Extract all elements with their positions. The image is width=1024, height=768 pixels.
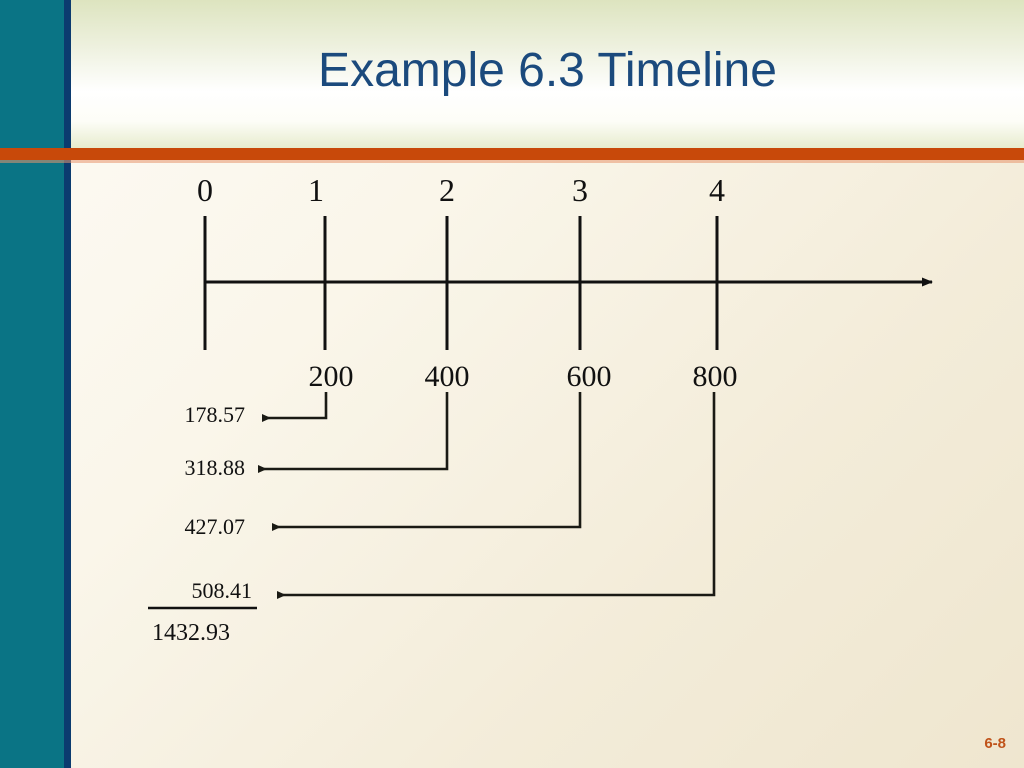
present-value-label-1: 178.57 [185,402,246,428]
present-value-label-4: 508.41 [192,578,253,604]
discount-arrow-3 [272,392,580,527]
period-label-3: 3 [572,172,588,209]
slide-canvas: Example 6.3 Timeline [0,0,1024,768]
cash-flow-label-1: 200 [309,360,354,394]
slide-page-number: 6-8 [984,735,1006,752]
cash-flow-label-3: 600 [567,360,612,394]
period-label-2: 2 [439,172,455,209]
present-value-label-2: 318.88 [185,455,246,481]
discount-arrow-4 [277,392,714,595]
timeline-figure [0,0,1024,768]
present-value-label-3: 427.07 [185,514,246,540]
period-label-1: 1 [308,172,324,209]
period-label-0: 0 [197,172,213,209]
cash-flow-label-2: 400 [425,360,470,394]
cash-flow-label-4: 800 [693,360,738,394]
discount-arrow-1 [262,392,326,418]
period-label-4: 4 [709,172,725,209]
discount-arrow-2 [258,392,447,469]
total-present-value-label: 1432.93 [152,620,230,647]
